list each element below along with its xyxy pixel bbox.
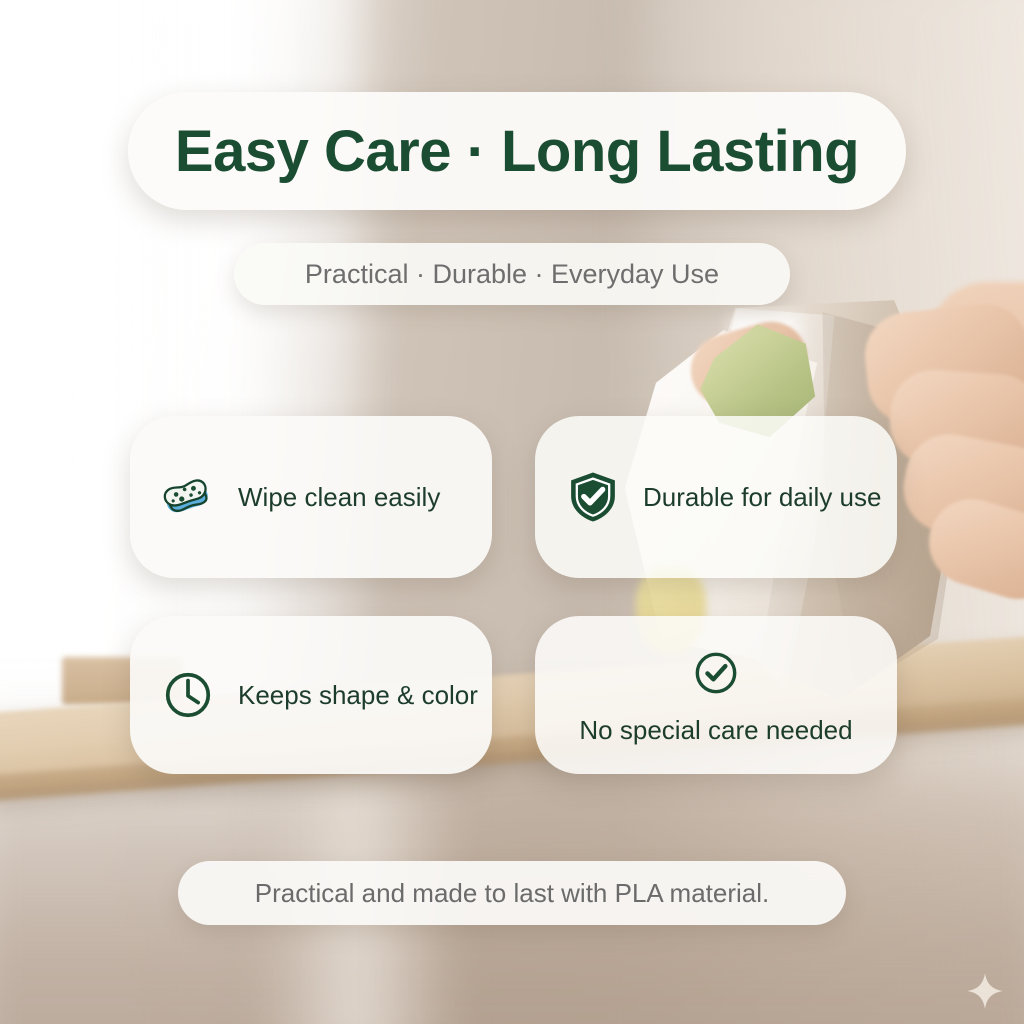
feature-label: Durable for daily use xyxy=(643,482,881,513)
feature-label: Wipe clean easily xyxy=(238,482,440,513)
footer-text: Practical and made to last with PLA mate… xyxy=(255,878,769,909)
feature-label: Keeps shape & color xyxy=(238,680,478,711)
title-pill: Easy Care · Long Lasting xyxy=(128,92,906,210)
feature-card-no-special-care[interactable]: No special care needed xyxy=(535,616,897,774)
feature-card-durable[interactable]: Durable for daily use xyxy=(535,416,897,578)
shield-check-icon xyxy=(565,469,621,525)
check-circle-icon xyxy=(688,645,744,701)
subtitle-pill: Practical · Durable · Everyday Use xyxy=(234,243,790,305)
feature-card-wipe-clean[interactable]: Wipe clean easily xyxy=(130,416,492,578)
feature-card-keeps-shape[interactable]: Keeps shape & color xyxy=(130,616,492,774)
promo-graphic: Easy Care · Long Lasting Practical · Dur… xyxy=(0,0,1024,1024)
sponge-icon xyxy=(160,469,216,525)
footer-pill: Practical and made to last with PLA mate… xyxy=(178,861,846,925)
clock-icon xyxy=(160,667,216,723)
page-title: Easy Care · Long Lasting xyxy=(175,118,859,185)
page-subtitle: Practical · Durable · Everyday Use xyxy=(305,259,719,290)
feature-label: No special care needed xyxy=(579,715,852,746)
sparkle-icon xyxy=(966,972,1004,1010)
